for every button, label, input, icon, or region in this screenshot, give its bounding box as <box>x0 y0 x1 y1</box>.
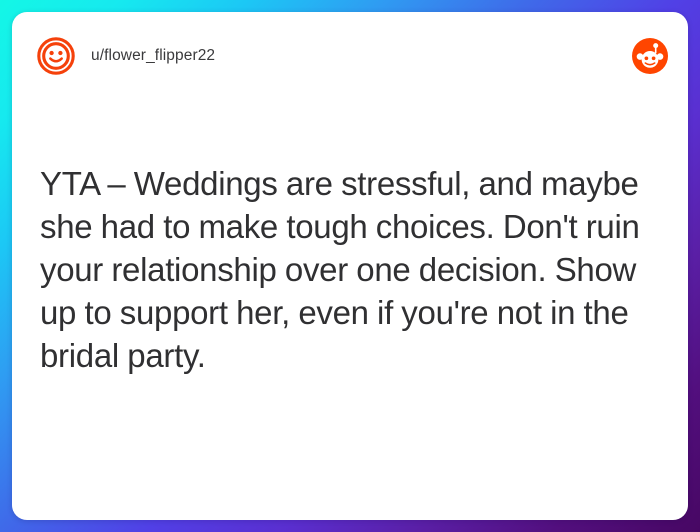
reddit-snoo-logo-icon[interactable] <box>632 38 668 74</box>
post-body-text: YTA – Weddings are stressful, and maybe … <box>40 162 670 377</box>
gradient-background: u/flower_flipper22 <box>0 0 700 532</box>
post-header: u/flower_flipper22 <box>12 12 688 100</box>
smiley-face-avatar-icon <box>36 36 76 76</box>
username-label: u/flower_flipper22 <box>91 47 215 65</box>
reddit-post-card: u/flower_flipper22 <box>12 12 688 520</box>
